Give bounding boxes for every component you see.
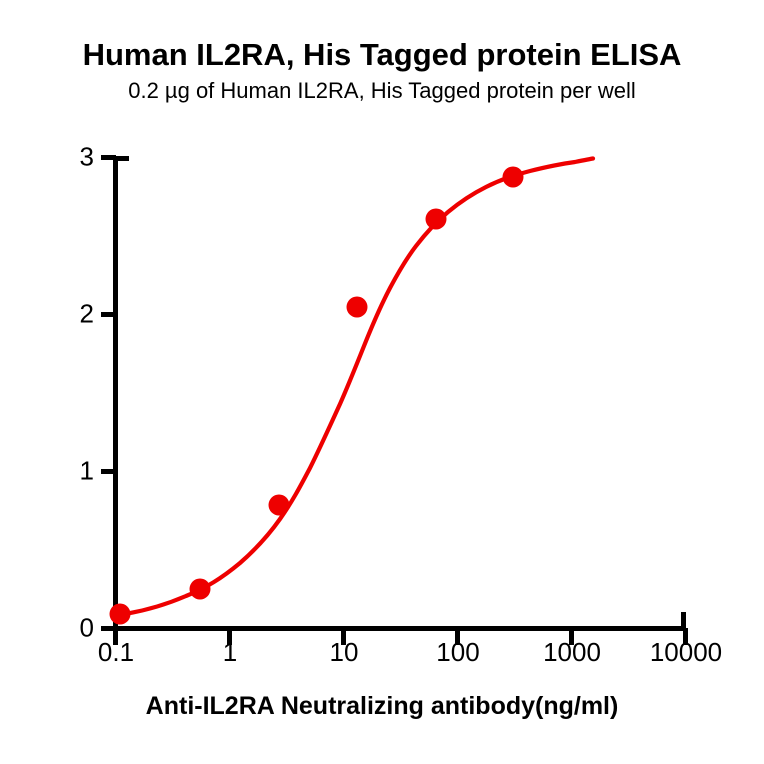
x-tick-label-2: 10 <box>330 637 359 668</box>
axis-lines <box>113 157 686 629</box>
x-tick-label-0: 0.1 <box>98 637 134 668</box>
data-point <box>347 297 368 318</box>
data-point <box>426 209 447 230</box>
y-tick-label-1: 1 <box>56 456 94 487</box>
y-tick-label-2: 2 <box>56 299 94 330</box>
x-tick-label-3: 100 <box>436 637 479 668</box>
x-tick-label-1: 1 <box>223 637 237 668</box>
elisa-chart-figure: Human IL2RA, His Tagged protein ELISA 0.… <box>0 0 764 764</box>
x-tick-label-5: 10000 <box>650 637 722 668</box>
y-tick-label-0: 0 <box>56 613 94 644</box>
y-tick-label-3: 3 <box>56 142 94 173</box>
x-axis-title: Anti-IL2RA Neutralizing antibody(ng/ml) <box>0 692 764 721</box>
data-point-markers <box>110 167 524 625</box>
data-point <box>269 495 290 516</box>
data-point <box>503 167 524 188</box>
data-point <box>190 579 211 600</box>
fit-curve <box>118 159 593 616</box>
data-point <box>110 604 131 625</box>
x-tick-label-4: 1000 <box>543 637 601 668</box>
